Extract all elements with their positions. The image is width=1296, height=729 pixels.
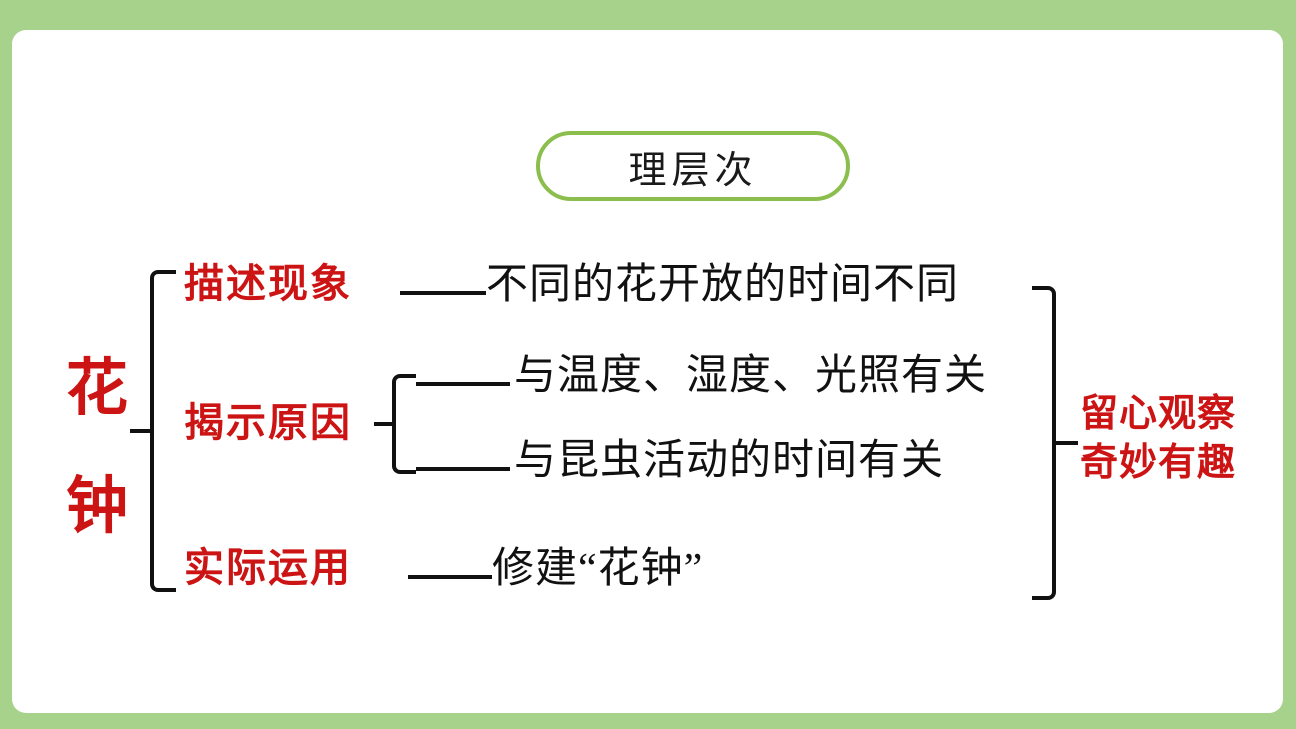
root-char-2: 钟 bbox=[64, 448, 130, 566]
conclusion-text: 留心观察 奇妙有趣 bbox=[1080, 390, 1236, 488]
conclusion-line-1: 留心观察 bbox=[1080, 390, 1236, 439]
root-char-1: 花 bbox=[64, 330, 130, 448]
page-title: 理层次 bbox=[540, 135, 846, 197]
detail-text-phenomenon: 不同的花开放的时间不同 bbox=[486, 264, 959, 306]
branch-label-cause: 揭示原因 bbox=[184, 403, 352, 443]
conclusion-line-2: 奇妙有趣 bbox=[1080, 439, 1236, 488]
title-pill: 理层次 bbox=[536, 131, 850, 201]
slide-canvas: 理层次 花 钟 描述现象 揭示原因 实际运用 不同的花开放的时间不同 与温度、湿… bbox=[0, 0, 1296, 729]
conclusion-bracket-stem bbox=[1052, 441, 1078, 445]
connector-dash-3 bbox=[416, 467, 510, 471]
detail-text-application: 修建“花钟” bbox=[492, 548, 703, 590]
connector-dash-1 bbox=[400, 291, 486, 295]
branch-label-phenomenon: 描述现象 bbox=[184, 264, 352, 304]
content-panel: 理层次 花 钟 描述现象 揭示原因 实际运用 不同的花开放的时间不同 与温度、湿… bbox=[12, 30, 1283, 713]
root-node-huazhong: 花 钟 bbox=[64, 330, 130, 566]
connector-dash-2 bbox=[416, 382, 510, 386]
branch-label-application: 实际运用 bbox=[184, 548, 352, 588]
detail-text-cause-2: 与昆虫活动的时间有关 bbox=[514, 440, 944, 482]
connector-dash-4 bbox=[408, 575, 492, 579]
cause-sub-bracket-stem bbox=[374, 422, 396, 426]
detail-text-cause-1: 与温度、湿度、光照有关 bbox=[514, 355, 987, 397]
main-bracket-stem bbox=[130, 429, 154, 433]
